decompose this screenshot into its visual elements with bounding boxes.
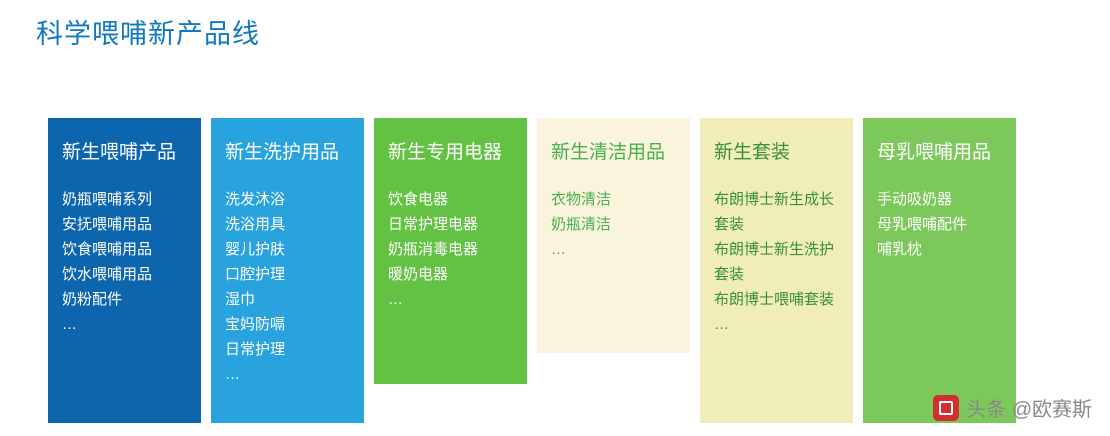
- list-item: …: [62, 312, 187, 337]
- list-item: 日常护理: [225, 337, 350, 362]
- column-title: 母乳喂哺用品: [877, 140, 1002, 165]
- column-title: 新生喂哺产品: [62, 140, 187, 165]
- product-column-4[interactable]: 新生套装 布朗博士新生成长套装 布朗博士新生洗护套装 布朗博士喂哺套装 …: [700, 118, 853, 423]
- list-item: 奶粉配件: [62, 287, 187, 312]
- list-item: 饮食喂哺用品: [62, 237, 187, 262]
- column-title: 新生清洁用品: [551, 140, 676, 165]
- column-items: 布朗博士新生成长套装 布朗博士新生洗护套装 布朗博士喂哺套装 …: [714, 187, 839, 337]
- list-item: 口腔护理: [225, 262, 350, 287]
- list-item: 哺乳枕: [877, 237, 1002, 262]
- page-title: 科学喂哺新产品线: [36, 12, 260, 51]
- list-item: 衣物清洁: [551, 187, 676, 212]
- product-column-0[interactable]: 新生喂哺产品 奶瓶喂哺系列 安抚喂哺用品 饮食喂哺用品 饮水喂哺用品 奶粉配件 …: [48, 118, 201, 423]
- list-item: 日常护理电器: [388, 212, 513, 237]
- product-column-2[interactable]: 新生专用电器 饮食电器 日常护理电器 奶瓶消毒电器 暖奶电器 …: [374, 118, 527, 384]
- list-item: 宝妈防嗝: [225, 312, 350, 337]
- column-items: 饮食电器 日常护理电器 奶瓶消毒电器 暖奶电器 …: [388, 187, 513, 312]
- product-column-1[interactable]: 新生洗护用品 洗发沐浴 洗浴用具 婴儿护肤 口腔护理 湿巾 宝妈防嗝 日常护理 …: [211, 118, 364, 423]
- column-items: 衣物清洁 奶瓶清洁 …: [551, 187, 676, 262]
- column-title: 新生套装: [714, 140, 839, 165]
- list-item: 手动吸奶器: [877, 187, 1002, 212]
- list-item: …: [551, 237, 676, 262]
- list-item: 洗发沐浴: [225, 187, 350, 212]
- list-item: …: [225, 362, 350, 387]
- list-item: 奶瓶清洁: [551, 212, 676, 237]
- list-item: 母乳喂哺配件: [877, 212, 1002, 237]
- product-line-columns: 新生喂哺产品 奶瓶喂哺系列 安抚喂哺用品 饮食喂哺用品 饮水喂哺用品 奶粉配件 …: [48, 118, 1016, 423]
- column-items: 奶瓶喂哺系列 安抚喂哺用品 饮食喂哺用品 饮水喂哺用品 奶粉配件 …: [62, 187, 187, 337]
- list-item: 安抚喂哺用品: [62, 212, 187, 237]
- list-item: 湿巾: [225, 287, 350, 312]
- column-items: 洗发沐浴 洗浴用具 婴儿护肤 口腔护理 湿巾 宝妈防嗝 日常护理 …: [225, 187, 350, 387]
- list-item: 奶瓶喂哺系列: [62, 187, 187, 212]
- watermark: 头条 @欧赛斯: [933, 393, 1092, 422]
- list-item: 饮食电器: [388, 187, 513, 212]
- product-column-5[interactable]: 母乳喂哺用品 手动吸奶器 母乳喂哺配件 哺乳枕: [863, 118, 1016, 423]
- list-item: 布朗博士新生成长套装: [714, 187, 839, 237]
- column-title: 新生洗护用品: [225, 140, 350, 165]
- toutiao-logo-icon: [933, 395, 959, 421]
- product-column-3[interactable]: 新生清洁用品 衣物清洁 奶瓶清洁 …: [537, 118, 690, 353]
- list-item: 奶瓶消毒电器: [388, 237, 513, 262]
- list-item: 暖奶电器: [388, 262, 513, 287]
- column-items: 手动吸奶器 母乳喂哺配件 哺乳枕: [877, 187, 1002, 262]
- list-item: 饮水喂哺用品: [62, 262, 187, 287]
- list-item: 布朗博士喂哺套装: [714, 287, 839, 312]
- column-title: 新生专用电器: [388, 140, 513, 165]
- list-item: …: [388, 287, 513, 312]
- list-item: …: [714, 312, 839, 337]
- list-item: 洗浴用具: [225, 212, 350, 237]
- list-item: 婴儿护肤: [225, 237, 350, 262]
- list-item: 布朗博士新生洗护套装: [714, 237, 839, 287]
- watermark-text: 头条 @欧赛斯: [966, 393, 1092, 422]
